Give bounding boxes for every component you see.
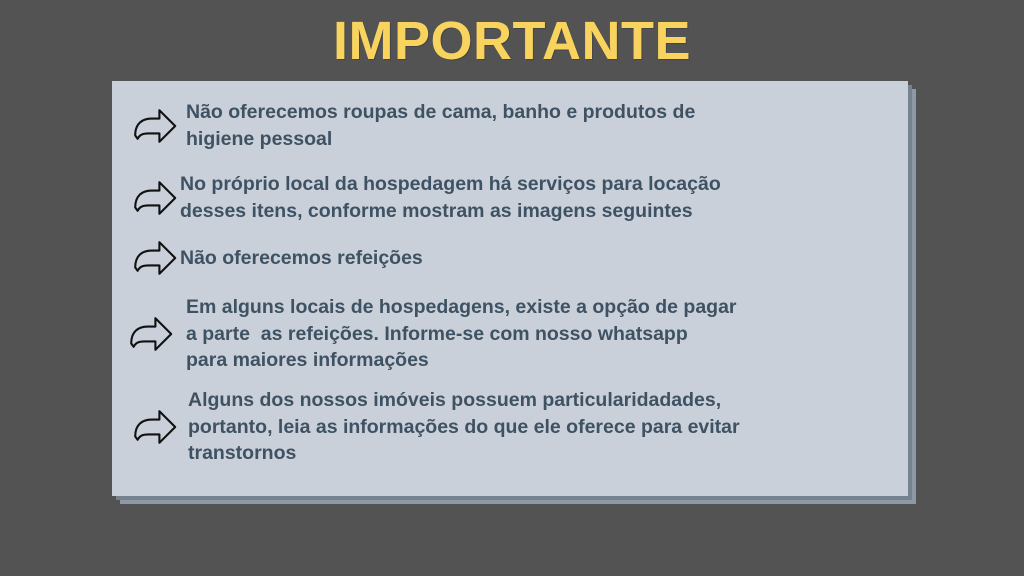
page-title: IMPORTANTE (0, 10, 1024, 72)
slide-canvas: IMPORTANTE Não oferecemos roupas de cama… (0, 0, 1024, 576)
list-item-label: No próprio local da hospedagem há serviç… (178, 171, 721, 224)
curved-block-arrow-right-icon (132, 179, 178, 217)
list-item: Alguns dos nossos imóveis possuem partic… (132, 387, 892, 467)
list-item-label: Alguns dos nossos imóveis possuem partic… (178, 387, 740, 467)
list-item: Não oferecemos refeições (132, 239, 892, 277)
curved-block-arrow-right-icon (128, 315, 174, 353)
curved-block-arrow-right-icon (132, 107, 178, 145)
list-item-label: Não oferecemos refeições (178, 245, 423, 272)
curved-block-arrow-right-icon (132, 239, 178, 277)
list-item: Em alguns locais de hospedagens, existe … (128, 294, 888, 374)
list-item-label: Não oferecemos roupas de cama, banho e p… (178, 99, 695, 152)
list-item-label: Em alguns locais de hospedagens, existe … (174, 294, 737, 374)
curved-block-arrow-right-icon (132, 408, 178, 446)
list-item: No próprio local da hospedagem há serviç… (132, 171, 892, 224)
list-item: Não oferecemos roupas de cama, banho e p… (132, 99, 892, 152)
